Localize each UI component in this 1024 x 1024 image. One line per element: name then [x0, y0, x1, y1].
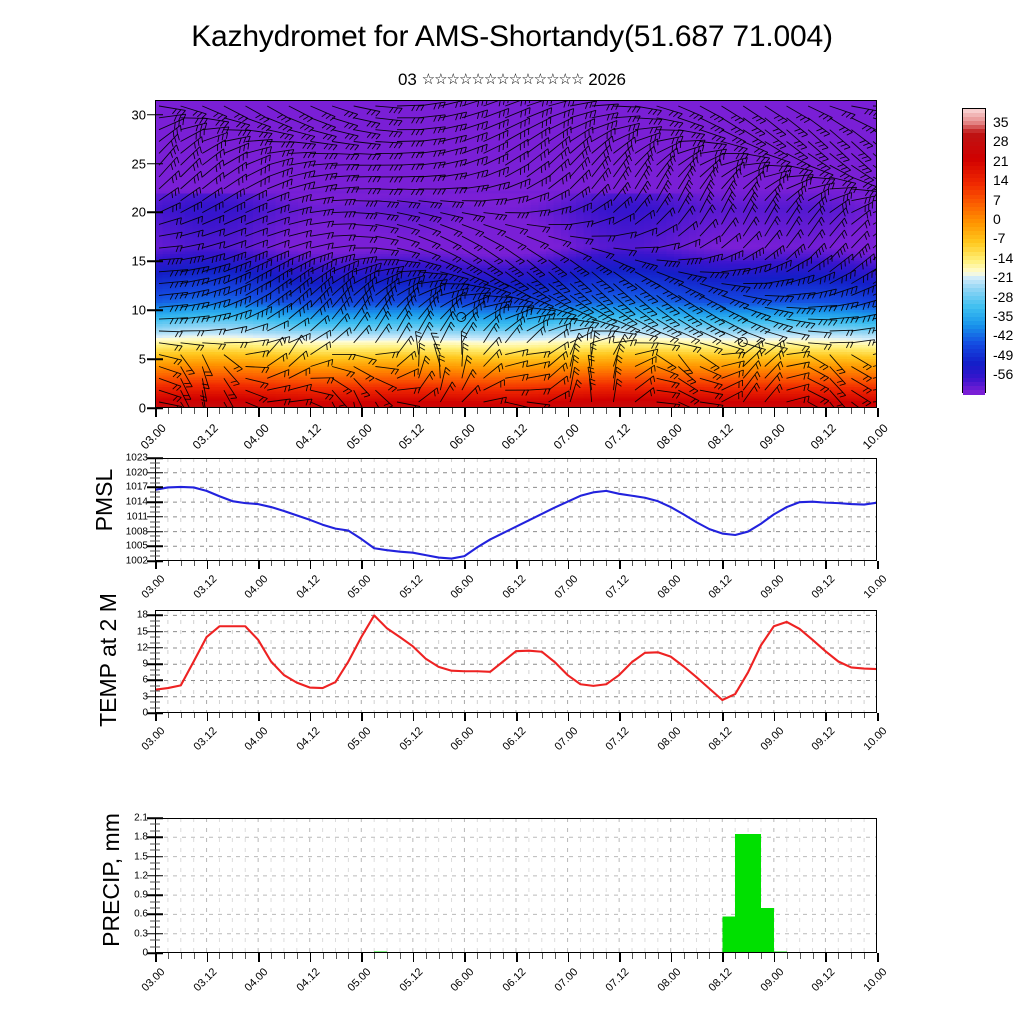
y-tick-minor-right: [155, 702, 160, 703]
x-tick-label-13: 09.12: [810, 725, 838, 753]
y-tick-mark-right: [155, 856, 163, 858]
x-tick-label-14: 10.00: [862, 966, 890, 994]
x-tick-minor: [542, 713, 543, 718]
x-tick-major: [207, 408, 209, 417]
x-tick-minor: [477, 953, 478, 959]
x-tick-minor: [297, 408, 298, 414]
x-tick-minor: [748, 953, 749, 959]
x-tick-minor: [232, 408, 233, 414]
colorbar-label-6: -7: [985, 230, 1005, 246]
y-tick-mark: [147, 501, 155, 503]
x-tick-minor: [503, 408, 504, 414]
y-tick-mark-right: [155, 309, 163, 311]
y-tick-mark-right: [155, 163, 163, 165]
x-tick-minor: [555, 561, 556, 566]
x-tick-minor: [813, 408, 814, 414]
x-tick-minor: [219, 561, 220, 566]
y-tick-mark-right: [155, 647, 163, 649]
x-tick-minor: [194, 953, 195, 959]
temp2m-frame: [155, 610, 877, 713]
x-tick-minor: [336, 713, 337, 718]
x-tick-minor: [400, 953, 401, 959]
cross-section-frame: [155, 100, 877, 408]
y-tick-mark-right: [155, 472, 163, 474]
x-tick-major: [774, 713, 776, 721]
y-tick-minor-right: [155, 482, 160, 483]
x-tick-minor: [529, 713, 530, 718]
x-tick-minor: [748, 713, 749, 718]
x-tick-minor: [813, 953, 814, 959]
x-tick-label-13: 09.12: [808, 421, 839, 452]
x-tick-major: [774, 561, 776, 569]
x-tick-minor: [580, 408, 581, 414]
x-tick-label-4: 05.00: [346, 573, 374, 601]
x-tick-label-3: 04.12: [294, 966, 322, 994]
x-tick-major: [671, 713, 673, 721]
x-tick-minor: [800, 713, 801, 718]
x-tick-label-14: 10.00: [862, 573, 890, 601]
x-tick-major: [825, 953, 827, 962]
x-tick-label-10: 08.00: [655, 966, 683, 994]
x-tick-minor: [400, 561, 401, 566]
x-tick-major: [825, 713, 827, 721]
x-tick-minor: [864, 561, 865, 566]
x-tick-minor: [787, 408, 788, 414]
x-tick-label-1: 03.12: [191, 966, 219, 994]
y-tick-mark-right: [155, 358, 163, 360]
y-tick-minor-right: [155, 626, 160, 627]
y-tick-minor-right: [155, 507, 160, 508]
y-tick-mark: [147, 952, 155, 954]
x-tick-major: [516, 561, 518, 569]
x-tick-label-10: 08.00: [655, 725, 683, 753]
y-tick-mark: [147, 647, 155, 649]
x-tick-minor: [194, 713, 195, 718]
y-tick-minor-right: [155, 691, 160, 692]
y-tick-minor-right: [155, 901, 160, 902]
y-tick-mark: [147, 837, 155, 839]
colorbar-label-5: 0: [985, 211, 1001, 227]
y-tick-mark: [147, 457, 155, 459]
x-tick-label-12: 09.00: [758, 725, 786, 753]
y-tick-minor-right: [155, 685, 160, 686]
x-tick-label-6: 06.00: [449, 725, 477, 753]
y-tick-minor-right: [155, 497, 160, 498]
x-tick-major: [516, 408, 518, 417]
x-tick-minor: [348, 713, 349, 718]
x-tick-label-12: 09.00: [758, 573, 786, 601]
y-tick-mark-right: [155, 680, 163, 682]
x-tick-minor: [735, 953, 736, 959]
page-title: Kazhydromet for AMS-Shortandy(51.687 71.…: [0, 20, 1024, 54]
x-tick-minor: [851, 713, 852, 718]
x-tick-minor: [503, 953, 504, 959]
x-tick-major: [258, 713, 260, 721]
x-tick-minor: [542, 408, 543, 414]
x-tick-minor: [529, 953, 530, 959]
y-tick-mark: [147, 631, 155, 633]
x-tick-minor: [761, 408, 762, 414]
x-tick-minor: [284, 561, 285, 566]
x-tick-minor: [219, 953, 220, 959]
x-tick-minor: [787, 561, 788, 566]
x-tick-minor: [697, 561, 698, 566]
x-tick-label-1: 03.12: [191, 725, 219, 753]
x-tick-minor: [336, 953, 337, 959]
y-tick-minor-right: [155, 526, 160, 527]
x-tick-minor: [452, 561, 453, 566]
y-tick-mark: [147, 712, 155, 714]
x-tick-major: [413, 953, 415, 962]
x-tick-label-0: 03.00: [138, 421, 169, 452]
x-tick-label-6: 06.00: [447, 421, 478, 452]
x-tick-minor: [297, 713, 298, 718]
x-tick-major: [619, 561, 621, 569]
x-tick-minor: [452, 713, 453, 718]
x-tick-minor: [181, 713, 182, 718]
y-tick-mark-right: [155, 837, 163, 839]
x-tick-major: [722, 408, 724, 417]
x-tick-minor: [748, 408, 749, 414]
x-tick-label-7: 06.12: [501, 966, 529, 994]
x-tick-major: [722, 953, 724, 962]
y-tick-minor-right: [155, 927, 160, 928]
precip-x-axis: 03.0003.1204.0004.1205.0005.1206.0006.12…: [155, 953, 877, 1013]
x-tick-major: [671, 561, 673, 569]
x-tick-minor: [697, 408, 698, 414]
x-tick-minor: [555, 953, 556, 959]
x-tick-minor: [787, 713, 788, 718]
x-tick-label-5: 05.12: [397, 725, 425, 753]
x-tick-minor: [374, 561, 375, 566]
x-tick-minor: [336, 408, 337, 414]
y-tick-mark-right: [155, 663, 163, 665]
x-tick-minor: [632, 408, 633, 414]
x-tick-minor: [439, 561, 440, 566]
colorbar-label-1: 28: [985, 133, 1009, 149]
x-tick-label-3: 04.12: [294, 573, 322, 601]
x-tick-major: [825, 408, 827, 417]
x-tick-minor: [864, 408, 865, 414]
x-tick-major: [361, 408, 363, 417]
x-tick-label-14: 10.00: [862, 725, 890, 753]
y-tick-minor-right: [155, 863, 160, 864]
x-tick-major: [258, 408, 260, 417]
x-tick-minor: [645, 713, 646, 718]
x-tick-major: [671, 953, 673, 962]
x-tick-minor: [477, 713, 478, 718]
x-tick-minor: [838, 713, 839, 718]
x-tick-minor: [323, 408, 324, 414]
x-tick-minor: [864, 953, 865, 959]
x-tick-major: [464, 713, 466, 721]
x-tick-label-9: 07.12: [602, 421, 633, 452]
x-tick-minor: [735, 561, 736, 566]
x-tick-minor: [542, 953, 543, 959]
x-tick-minor: [439, 953, 440, 959]
x-tick-major: [568, 408, 570, 417]
x-tick-label-0: 03.00: [140, 966, 168, 994]
y-tick-mark: [147, 114, 155, 116]
y-tick-mark: [147, 680, 155, 682]
x-tick-minor: [593, 953, 594, 959]
x-tick-minor: [194, 408, 195, 414]
subtitle-year: 2026: [588, 70, 626, 89]
x-tick-label-7: 06.12: [501, 725, 529, 753]
x-tick-minor: [245, 408, 246, 414]
x-tick-minor: [580, 713, 581, 718]
x-tick-minor: [800, 953, 801, 959]
x-tick-label-2: 04.00: [243, 573, 271, 601]
x-tick-minor: [709, 561, 710, 566]
x-tick-major: [361, 561, 363, 569]
x-tick-major: [568, 561, 570, 569]
temp2m-x-axis: 03.0003.1204.0004.1205.0005.1206.0006.12…: [155, 713, 877, 773]
x-tick-label-8: 07.00: [552, 966, 580, 994]
y-tick-minor-right: [155, 467, 160, 468]
y-tick-mark: [147, 875, 155, 877]
pmsl-axis-label: PMSL: [91, 450, 121, 550]
colorbar-label-10: -35: [985, 308, 1013, 324]
y-tick-minor-right: [155, 511, 160, 512]
colorbar-label-0: 35: [985, 114, 1009, 130]
x-tick-minor: [580, 953, 581, 959]
x-tick-minor: [529, 561, 530, 566]
x-tick-major: [361, 713, 363, 721]
x-tick-minor: [168, 408, 169, 414]
x-tick-minor: [348, 408, 349, 414]
x-tick-major: [464, 408, 466, 417]
temperature-colorbar: 3528211470-7-14-21-28-35-42-49-56: [962, 108, 986, 393]
x-tick-minor: [323, 561, 324, 566]
x-tick-label-5: 05.12: [397, 966, 425, 994]
x-tick-minor: [387, 561, 388, 566]
x-tick-major: [774, 953, 776, 962]
x-tick-label-9: 07.12: [604, 966, 632, 994]
x-tick-major: [877, 713, 879, 721]
x-tick-major: [413, 561, 415, 569]
x-tick-minor: [490, 561, 491, 566]
x-tick-minor: [452, 408, 453, 414]
x-tick-label-7: 06.12: [499, 421, 530, 452]
x-tick-minor: [632, 561, 633, 566]
x-tick-minor: [232, 713, 233, 718]
x-tick-major: [207, 713, 209, 721]
x-tick-major: [310, 713, 312, 721]
x-tick-minor: [297, 953, 298, 959]
x-tick-major: [619, 408, 621, 417]
y-tick-mark-right: [155, 631, 163, 633]
x-tick-label-11: 08.12: [707, 573, 735, 601]
x-tick-minor: [709, 713, 710, 718]
y-tick-mark-right: [155, 457, 163, 459]
y-tick-mark-right: [155, 114, 163, 116]
x-tick-major: [464, 561, 466, 569]
x-tick-minor: [645, 408, 646, 414]
x-tick-major: [464, 953, 466, 962]
y-tick-minor-right: [155, 843, 160, 844]
x-tick-minor: [838, 953, 839, 959]
x-tick-minor: [271, 713, 272, 718]
y-tick-mark: [147, 261, 155, 263]
y-tick-mark: [147, 894, 155, 896]
colorbar-segment: [963, 390, 985, 395]
y-tick-mark-right: [155, 696, 163, 698]
x-tick-minor: [864, 713, 865, 718]
colorbar-label-9: -28: [985, 289, 1013, 305]
x-tick-minor: [490, 713, 491, 718]
x-tick-minor: [555, 713, 556, 718]
x-tick-minor: [348, 953, 349, 959]
y-tick-minor-right: [155, 882, 160, 883]
x-tick-minor: [284, 713, 285, 718]
colorbar-label-8: -21: [985, 269, 1013, 285]
x-tick-label-8: 07.00: [550, 421, 581, 452]
y-tick-mark: [147, 358, 155, 360]
x-tick-minor: [542, 561, 543, 566]
x-tick-minor: [606, 953, 607, 959]
precip-axis-label: PRECIP, mm: [98, 785, 128, 975]
x-tick-major: [207, 953, 209, 962]
x-tick-minor: [490, 408, 491, 414]
x-tick-minor: [245, 713, 246, 718]
x-tick-minor: [684, 408, 685, 414]
x-tick-minor: [232, 561, 233, 566]
colorbar-label-11: -42: [985, 327, 1013, 343]
x-tick-minor: [387, 713, 388, 718]
x-tick-label-9: 07.12: [604, 573, 632, 601]
x-tick-major: [155, 713, 157, 721]
x-tick-minor: [606, 713, 607, 718]
y-tick-minor-right: [155, 541, 160, 542]
x-tick-minor: [658, 408, 659, 414]
x-tick-minor: [645, 561, 646, 566]
x-tick-minor: [387, 408, 388, 414]
y-tick-minor-right: [155, 824, 160, 825]
cross-section-panel: [155, 100, 877, 408]
x-tick-label-12: 09.00: [757, 421, 788, 452]
x-tick-minor: [181, 953, 182, 959]
precip-frame: [155, 818, 877, 953]
x-tick-label-8: 07.00: [552, 573, 580, 601]
y-tick-mark: [147, 516, 155, 518]
x-tick-minor: [387, 953, 388, 959]
y-tick-minor-right: [155, 477, 160, 478]
y-tick-mark: [147, 560, 155, 562]
x-tick-major: [155, 561, 157, 569]
colorbar-label-13: -56: [985, 366, 1013, 382]
x-tick-minor: [426, 713, 427, 718]
y-tick-minor-right: [155, 940, 160, 941]
x-tick-minor: [813, 561, 814, 566]
y-tick-mark-right: [155, 875, 163, 877]
x-tick-minor: [838, 561, 839, 566]
x-tick-minor: [400, 713, 401, 718]
x-tick-minor: [439, 713, 440, 718]
y-tick-mark: [147, 663, 155, 665]
x-tick-minor: [529, 408, 530, 414]
x-tick-minor: [851, 408, 852, 414]
y-tick-minor-right: [155, 462, 160, 463]
precip-panel: [155, 818, 877, 953]
page-subtitle: 03 ☆☆☆☆☆☆☆☆☆☆☆☆☆ 2026: [0, 70, 1024, 90]
x-tick-major: [825, 561, 827, 569]
y-tick-mark: [147, 487, 155, 489]
pmsl-panel: [155, 458, 877, 561]
x-tick-minor: [761, 953, 762, 959]
x-tick-label-1: 03.12: [191, 573, 219, 601]
x-tick-label-5: 05.12: [396, 421, 427, 452]
x-tick-minor: [323, 713, 324, 718]
x-tick-major: [877, 953, 879, 962]
x-tick-minor: [697, 713, 698, 718]
x-tick-label-0: 03.00: [140, 573, 168, 601]
x-tick-minor: [426, 953, 427, 959]
x-tick-minor: [490, 953, 491, 959]
page-title-text: Kazhydromet for AMS-Shortandy(51.687 71.…: [191, 20, 833, 53]
y-tick-minor-right: [155, 869, 160, 870]
y-tick-mark-right: [155, 516, 163, 518]
x-tick-minor: [658, 561, 659, 566]
x-tick-minor: [219, 408, 220, 414]
x-tick-minor: [735, 713, 736, 718]
y-tick-minor-right: [155, 521, 160, 522]
y-tick-mark: [147, 615, 155, 617]
colorbar-label-4: 7: [985, 192, 1001, 208]
x-tick-minor: [735, 408, 736, 414]
x-tick-minor: [245, 561, 246, 566]
y-tick-minor-right: [155, 653, 160, 654]
x-tick-major: [413, 408, 415, 417]
x-tick-minor: [426, 408, 427, 414]
x-tick-label-6: 06.00: [449, 573, 477, 601]
x-tick-major: [516, 713, 518, 721]
x-tick-minor: [271, 408, 272, 414]
x-tick-label-0: 03.00: [140, 725, 168, 753]
y-tick-mark-right: [155, 546, 163, 548]
y-tick-minor-right: [155, 620, 160, 621]
x-tick-minor: [297, 561, 298, 566]
x-tick-minor: [697, 953, 698, 959]
x-tick-label-4: 05.00: [346, 725, 374, 753]
y-tick-minor-right: [155, 637, 160, 638]
x-tick-minor: [761, 561, 762, 566]
temp2m-axis-label: TEMP at 2 M: [95, 565, 125, 755]
y-tick-minor-right: [155, 669, 160, 670]
y-tick-mark-right: [155, 933, 163, 935]
x-tick-minor: [684, 561, 685, 566]
x-tick-label-2: 04.00: [243, 966, 271, 994]
y-tick-minor-right: [155, 908, 160, 909]
x-tick-label-1: 03.12: [189, 421, 220, 452]
x-tick-major: [207, 561, 209, 569]
x-tick-minor: [168, 713, 169, 718]
subtitle-day: 03: [398, 70, 417, 89]
x-tick-label-3: 04.12: [292, 421, 323, 452]
x-tick-label-12: 09.00: [758, 966, 786, 994]
y-tick-minor-right: [155, 556, 160, 557]
x-tick-minor: [348, 561, 349, 566]
x-tick-minor: [271, 561, 272, 566]
x-tick-major: [310, 953, 312, 962]
x-tick-major: [877, 408, 879, 417]
y-tick-mark: [147, 546, 155, 548]
x-tick-minor: [323, 953, 324, 959]
x-tick-minor: [748, 561, 749, 566]
x-tick-minor: [168, 561, 169, 566]
pmsl-frame: [155, 458, 877, 561]
y-tick-minor-right: [155, 492, 160, 493]
